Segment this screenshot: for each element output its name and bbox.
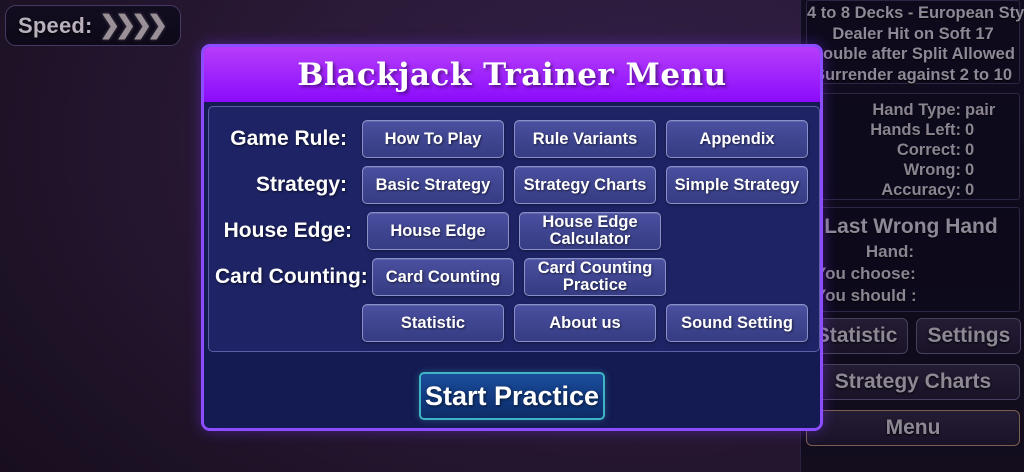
sidebar-button-row-2: Strategy Charts xyxy=(806,364,1020,400)
slot-basic-strategy: Basic Strategy xyxy=(357,166,509,204)
slot-appendix: Appendix xyxy=(661,120,813,158)
menu-row-card-counting: Card Counting: Card Counting Card Counti… xyxy=(215,254,813,300)
speed-label: Speed: xyxy=(18,13,93,39)
row-label-card-counting: Card Counting: xyxy=(215,265,367,289)
stat-row-hand-type: Hand Type: pair xyxy=(815,100,1003,120)
row-label-house-edge: House Edge: xyxy=(215,219,362,243)
slot-simple-strategy: Simple Strategy xyxy=(661,166,813,204)
chevron-right-icon: ❯ xyxy=(147,13,168,38)
stat-row-accuracy: Accuracy: 0 xyxy=(815,180,1003,200)
menu-options-panel: Game Rule: How To Play Rule Variants App… xyxy=(208,106,820,352)
stat-row-correct: Correct: 0 xyxy=(815,140,1003,160)
sidebar-buttons: Statistic Settings Strategy Charts Menu xyxy=(806,318,1020,468)
slot-rule-variants: Rule Variants xyxy=(509,120,661,158)
stat-label-correct: Correct: xyxy=(897,140,961,160)
stat-label-accuracy: Accuracy: xyxy=(881,180,961,200)
stat-row-wrong: Wrong: 0 xyxy=(815,160,1003,180)
speed-chevrons[interactable]: ❯ ❯ ❯ ❯ xyxy=(104,13,168,38)
dialog-body: Game Rule: How To Play Rule Variants App… xyxy=(204,102,820,428)
stats-panel: Hand Type: pair Hands Left: 0 Correct: 0… xyxy=(806,93,1020,200)
last-wrong-you-choose-label: You choose: xyxy=(813,263,1009,285)
rule-line-dealer: Dealer Hit on Soft 17 xyxy=(807,24,1019,45)
row-label-strategy: Strategy: xyxy=(215,173,357,197)
stat-value-wrong: 0 xyxy=(965,160,1003,180)
stat-value-correct: 0 xyxy=(965,140,1003,160)
statistic-menu-button[interactable]: Statistic xyxy=(362,304,504,342)
appendix-button[interactable]: Appendix xyxy=(666,120,808,158)
slot-sound-setting: Sound Setting xyxy=(661,304,813,342)
dialog-title: Blackjack Trainer Menu xyxy=(297,57,726,93)
house-edge-button[interactable]: House Edge xyxy=(367,212,509,250)
menu-row-strategy: Strategy: Basic Strategy Strategy Charts… xyxy=(215,162,813,208)
blackjack-trainer-menu-dialog: Blackjack Trainer Menu Game Rule: How To… xyxy=(201,44,823,431)
menu-row-misc: Statistic About us Sound Setting xyxy=(215,300,813,346)
slot-about-us: About us xyxy=(509,304,661,342)
start-area: Start Practice xyxy=(204,358,820,431)
slot-how-to-play: How To Play xyxy=(357,120,509,158)
start-practice-button[interactable]: Start Practice xyxy=(419,372,605,420)
last-wrong-you-should-label: You should : xyxy=(813,285,1009,307)
rule-variants-button[interactable]: Rule Variants xyxy=(514,120,656,158)
game-screen: 4 to 8 Decks - European Style Dealer Hit… xyxy=(0,0,1024,472)
last-wrong-hand-title: Last Wrong Hand xyxy=(813,213,1009,241)
menu-row-game-rule: Game Rule: How To Play Rule Variants App… xyxy=(215,116,813,162)
row-label-game-rule: Game Rule: xyxy=(215,127,357,151)
stat-label-hand-type: Hand Type: xyxy=(872,100,961,120)
about-us-button[interactable]: About us xyxy=(514,304,656,342)
last-wrong-hand-label: Hand: xyxy=(813,241,1009,263)
slot-card-counting: Card Counting xyxy=(367,258,519,296)
slot-statistic: Statistic xyxy=(357,304,509,342)
sidebar: 4 to 8 Decks - European Style Dealer Hit… xyxy=(800,0,1024,472)
strategy-charts-button[interactable]: Strategy Charts xyxy=(806,364,1020,400)
stat-value-hands-left: 0 xyxy=(965,120,1003,140)
rule-line-decks: 4 to 8 Decks - European Style xyxy=(807,3,1019,24)
sidebar-button-row-1: Statistic Settings xyxy=(806,318,1020,354)
simple-strategy-button[interactable]: Simple Strategy xyxy=(666,166,808,204)
sound-setting-button[interactable]: Sound Setting xyxy=(666,304,808,342)
stat-row-hands-left: Hands Left: 0 xyxy=(815,120,1003,140)
speed-widget[interactable]: Speed: ❯ ❯ ❯ ❯ xyxy=(5,5,181,46)
game-rules-panel: 4 to 8 Decks - European Style Dealer Hit… xyxy=(806,0,1020,84)
settings-button[interactable]: Settings xyxy=(916,318,1021,354)
basic-strategy-button[interactable]: Basic Strategy xyxy=(362,166,504,204)
slot-house-edge-calculator: House Edge Calculator xyxy=(514,212,666,250)
menu-button[interactable]: Menu xyxy=(806,410,1020,446)
house-edge-calculator-button[interactable]: House Edge Calculator xyxy=(519,212,661,250)
slot-house-edge: House Edge xyxy=(362,212,514,250)
stat-label-hands-left: Hands Left: xyxy=(870,120,961,140)
slot-strategy-charts: Strategy Charts xyxy=(509,166,661,204)
sidebar-button-row-3: Menu xyxy=(806,410,1020,446)
stat-value-hand-type: pair xyxy=(965,100,1003,120)
rule-line-surrender: Surrender against 2 to 10 xyxy=(807,65,1019,86)
rule-line-double: Double after Split Allowed xyxy=(807,44,1019,65)
card-counting-practice-button[interactable]: Card Counting Practice xyxy=(524,258,666,296)
slot-card-counting-practice: Card Counting Practice xyxy=(519,258,671,296)
how-to-play-button[interactable]: How To Play xyxy=(362,120,504,158)
card-counting-button[interactable]: Card Counting xyxy=(372,258,514,296)
dialog-header: Blackjack Trainer Menu xyxy=(204,47,820,102)
stat-value-accuracy: 0 xyxy=(965,180,1003,200)
last-wrong-hand-panel: Last Wrong Hand Hand: You choose: You sh… xyxy=(806,207,1020,312)
strategy-charts-menu-button[interactable]: Strategy Charts xyxy=(514,166,656,204)
menu-row-house-edge: House Edge: House Edge House Edge Calcul… xyxy=(215,208,813,254)
stat-label-wrong: Wrong: xyxy=(904,160,961,180)
